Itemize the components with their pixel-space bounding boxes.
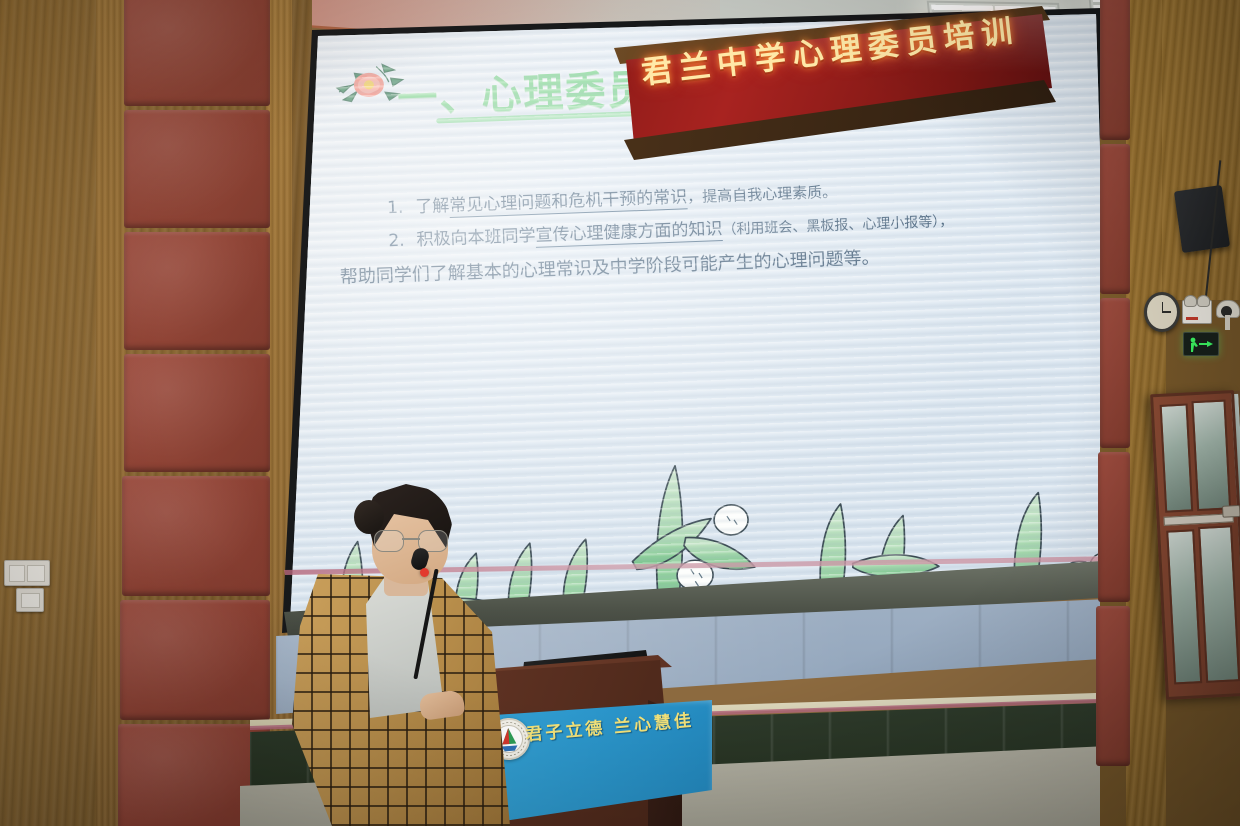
auditorium-photo-scene: 一、心理委员的职责 1. 了解常见心理问题和危机干预的常识，提高自我心理素质。 … [0, 0, 1240, 826]
bullet-1-tail: ，提高自我心理素质。 [687, 183, 838, 206]
acoustic-panel [124, 354, 270, 472]
bullet-1-lead: 了解 [415, 196, 450, 217]
acoustic-panel [124, 110, 270, 228]
door-glass-pane [1160, 403, 1194, 512]
speaker-icon [1174, 185, 1230, 253]
emergency-light-icon [1182, 300, 1212, 324]
slide-body: 1. 了解常见心理问题和危机干预的常识，提高自我心理素质。 2. 积极向本班同学… [381, 167, 1084, 294]
exit-door[interactable] [1150, 390, 1240, 700]
acoustic-panel [122, 476, 270, 596]
acoustic-panel [1100, 298, 1130, 448]
bullet-2-tail: （利用班会、黑板报、心理小报等）， [722, 214, 953, 238]
acoustic-panel [1100, 144, 1130, 294]
bullet-2-underlined: 宣传心理健康方面的知识 [535, 219, 723, 248]
exit-sign-icon [1183, 332, 1219, 356]
bullet-2-lead: 积极向本班同学 [416, 226, 536, 250]
door-glass-pane [1198, 525, 1240, 683]
acoustic-panel [124, 0, 270, 106]
bullet-number: 2. [382, 225, 405, 259]
light-switch-icon[interactable] [16, 588, 44, 612]
eyeglasses-icon [374, 530, 448, 550]
door-handle-icon[interactable] [1222, 505, 1240, 518]
acoustic-panel [1096, 606, 1130, 766]
bullet-number: 1. [381, 192, 404, 226]
acoustic-panel [120, 600, 270, 720]
acoustic-panel [1098, 452, 1130, 602]
door-glass-pane [1166, 529, 1202, 684]
hair-bun [354, 500, 384, 534]
door-glass-pane [1191, 399, 1231, 511]
bullet-1-underlined: 常见心理问题和危机干预的常识 [449, 187, 688, 218]
security-camera-icon [1216, 300, 1240, 330]
wall-clock-icon [1144, 292, 1180, 332]
presenter [292, 482, 532, 826]
wood-wall-section [1162, 0, 1240, 300]
microphone-indicator [420, 568, 429, 577]
acoustic-panel [1100, 0, 1130, 140]
acoustic-panel [124, 232, 270, 350]
light-switch-icon[interactable] [4, 560, 50, 586]
